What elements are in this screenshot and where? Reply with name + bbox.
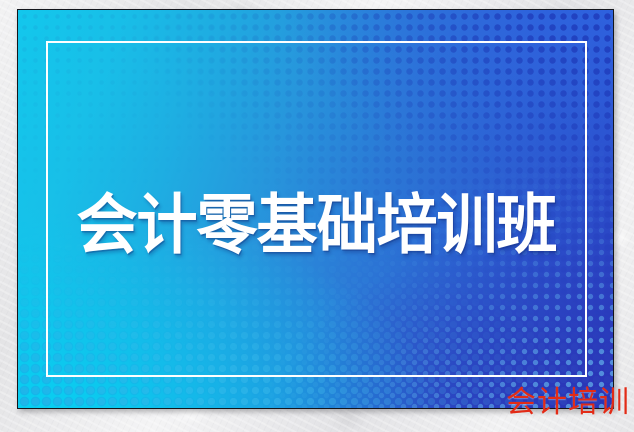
poster-title: 会计零基础培训班 [76, 193, 556, 258]
poster-image-canvas: 会计零基础培训班 会计培训 [0, 0, 634, 432]
watermark-text: 会计培训 [506, 386, 630, 419]
poster-panel: 会计零基础培训班 [17, 9, 614, 409]
poster-title-container: 会计零基础培训班 [18, 180, 614, 270]
